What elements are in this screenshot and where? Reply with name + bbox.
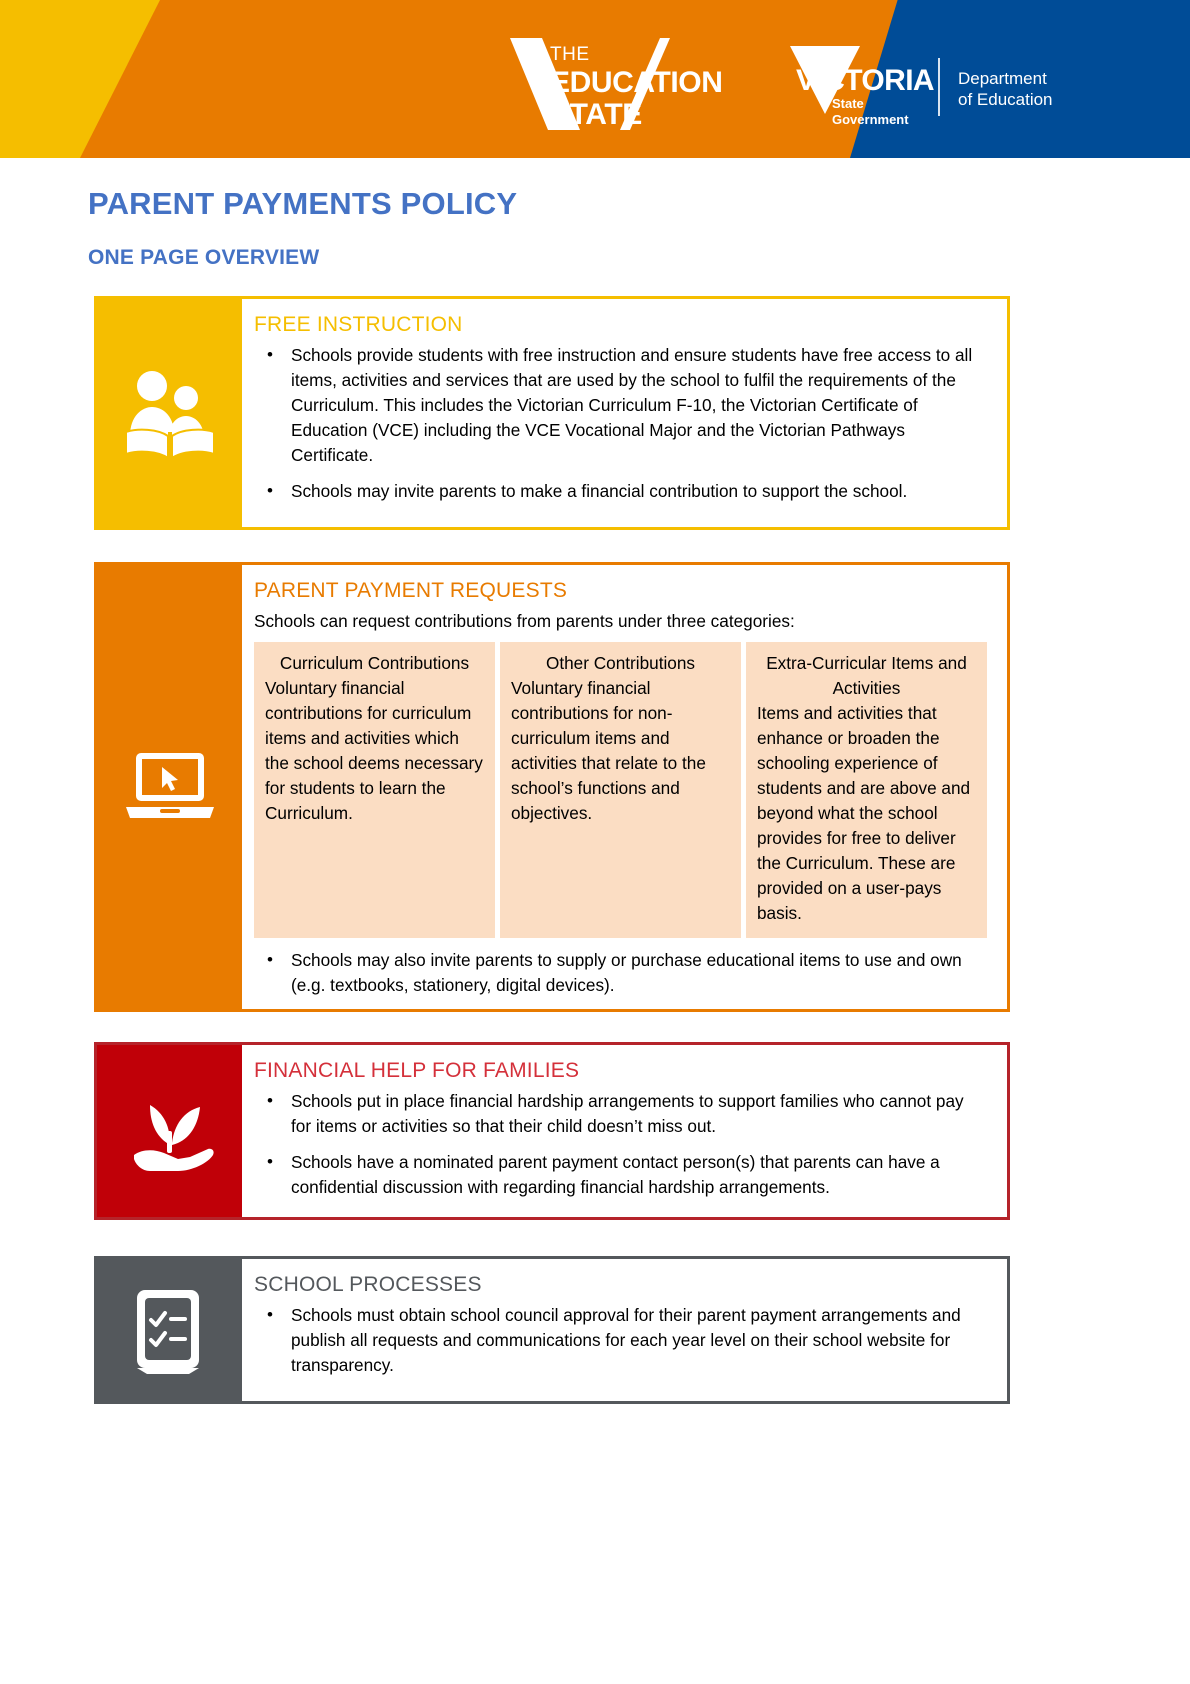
payment-categories-table: Curriculum Contributions Voluntary finan… (254, 642, 987, 938)
bullet-item: Schools have a nominated parent payment … (254, 1150, 987, 1200)
category-title: Extra-Curricular Items and Activities (757, 651, 976, 701)
parent-payment-requests-body: PARENT PAYMENT REQUESTS Schools can requ… (242, 565, 1007, 1009)
financial-help-icon-panel (97, 1045, 242, 1217)
adult-reading-with-child-icon (120, 366, 220, 461)
free-instruction-heading: FREE INSTRUCTION (254, 313, 987, 337)
parent-payment-requests-intro: Schools can request contributions from p… (254, 609, 987, 634)
school-processes-heading: SCHOOL PROCESSES (254, 1273, 987, 1297)
document-page: THE EDUCATION STATE VICTORIA State Gover… (0, 0, 1190, 1684)
hand-holding-plant-icon (120, 1087, 220, 1175)
category-column-curriculum-contributions: Curriculum Contributions Voluntary finan… (254, 642, 495, 938)
education-state-line3: STATE (550, 98, 642, 131)
free-instruction-icon-panel (97, 299, 242, 527)
bullet-item: Schools put in place financial hardship … (254, 1089, 987, 1139)
free-instruction-body: FREE INSTRUCTION Schools provide student… (242, 299, 1007, 527)
department-lockup: Department of Education (958, 68, 1053, 110)
checklist-document-icon (127, 1284, 213, 1376)
section-free-instruction: FREE INSTRUCTION Schools provide student… (94, 296, 1010, 530)
category-column-other-contributions: Other Contributions Voluntary financial … (500, 642, 741, 938)
department-line1: Department (958, 68, 1053, 89)
victoria-state-government-logo: VICTORIA State Government (782, 44, 952, 132)
department-line2: of Education (958, 89, 1053, 110)
parent-payment-requests-bullet-list: Schools may also invite parents to suppl… (254, 948, 987, 998)
laptop-cursor-icon (122, 747, 218, 827)
financial-help-bullet-list: Schools put in place financial hardship … (254, 1089, 987, 1200)
page-header-banner: THE EDUCATION STATE VICTORIA State Gover… (0, 0, 1190, 158)
education-state-logo: THE EDUCATION STATE (502, 34, 752, 134)
section-school-processes: SCHOOL PROCESSES Schools must obtain sch… (94, 1256, 1010, 1404)
education-state-line2: EDUCATION (550, 66, 723, 99)
school-processes-body: SCHOOL PROCESSES Schools must obtain sch… (242, 1259, 1007, 1401)
bullet-item: Schools must obtain school council appro… (254, 1303, 987, 1378)
category-column-extra-curricular: Extra-Curricular Items and Activities It… (746, 642, 987, 938)
parent-payment-requests-icon-panel (97, 565, 242, 1009)
section-parent-payment-requests: PARENT PAYMENT REQUESTS Schools can requ… (94, 562, 1010, 1012)
category-description: Voluntary financial contributions for cu… (265, 676, 484, 826)
page-subtitle: ONE PAGE OVERVIEW (88, 246, 319, 270)
category-title: Curriculum Contributions (265, 651, 484, 676)
victoria-wordmark: VICTORIA (796, 64, 934, 97)
victoria-sub1: State (832, 96, 864, 111)
financial-help-body: FINANCIAL HELP FOR FAMILIES Schools put … (242, 1045, 1007, 1217)
financial-help-heading: FINANCIAL HELP FOR FAMILIES (254, 1059, 987, 1083)
category-description: Items and activities that enhance or bro… (757, 701, 976, 926)
logo-divider (938, 58, 940, 116)
parent-payment-requests-heading: PARENT PAYMENT REQUESTS (254, 579, 987, 603)
category-title: Other Contributions (511, 651, 730, 676)
school-processes-bullet-list: Schools must obtain school council appro… (254, 1303, 987, 1378)
category-description: Voluntary financial contributions for no… (511, 676, 730, 826)
school-processes-icon-panel (97, 1259, 242, 1401)
bullet-item: Schools may invite parents to make a fin… (254, 479, 987, 504)
page-title: PARENT PAYMENTS POLICY (88, 186, 517, 222)
section-financial-help-for-families: FINANCIAL HELP FOR FAMILIES Schools put … (94, 1042, 1010, 1220)
free-instruction-bullet-list: Schools provide students with free instr… (254, 343, 987, 504)
victoria-sub2: Government (832, 112, 909, 127)
bullet-item: Schools may also invite parents to suppl… (254, 948, 987, 998)
header-yellow-wedge (0, 0, 160, 158)
bullet-item: Schools provide students with free instr… (254, 343, 987, 468)
education-state-line1: THE (550, 44, 590, 65)
